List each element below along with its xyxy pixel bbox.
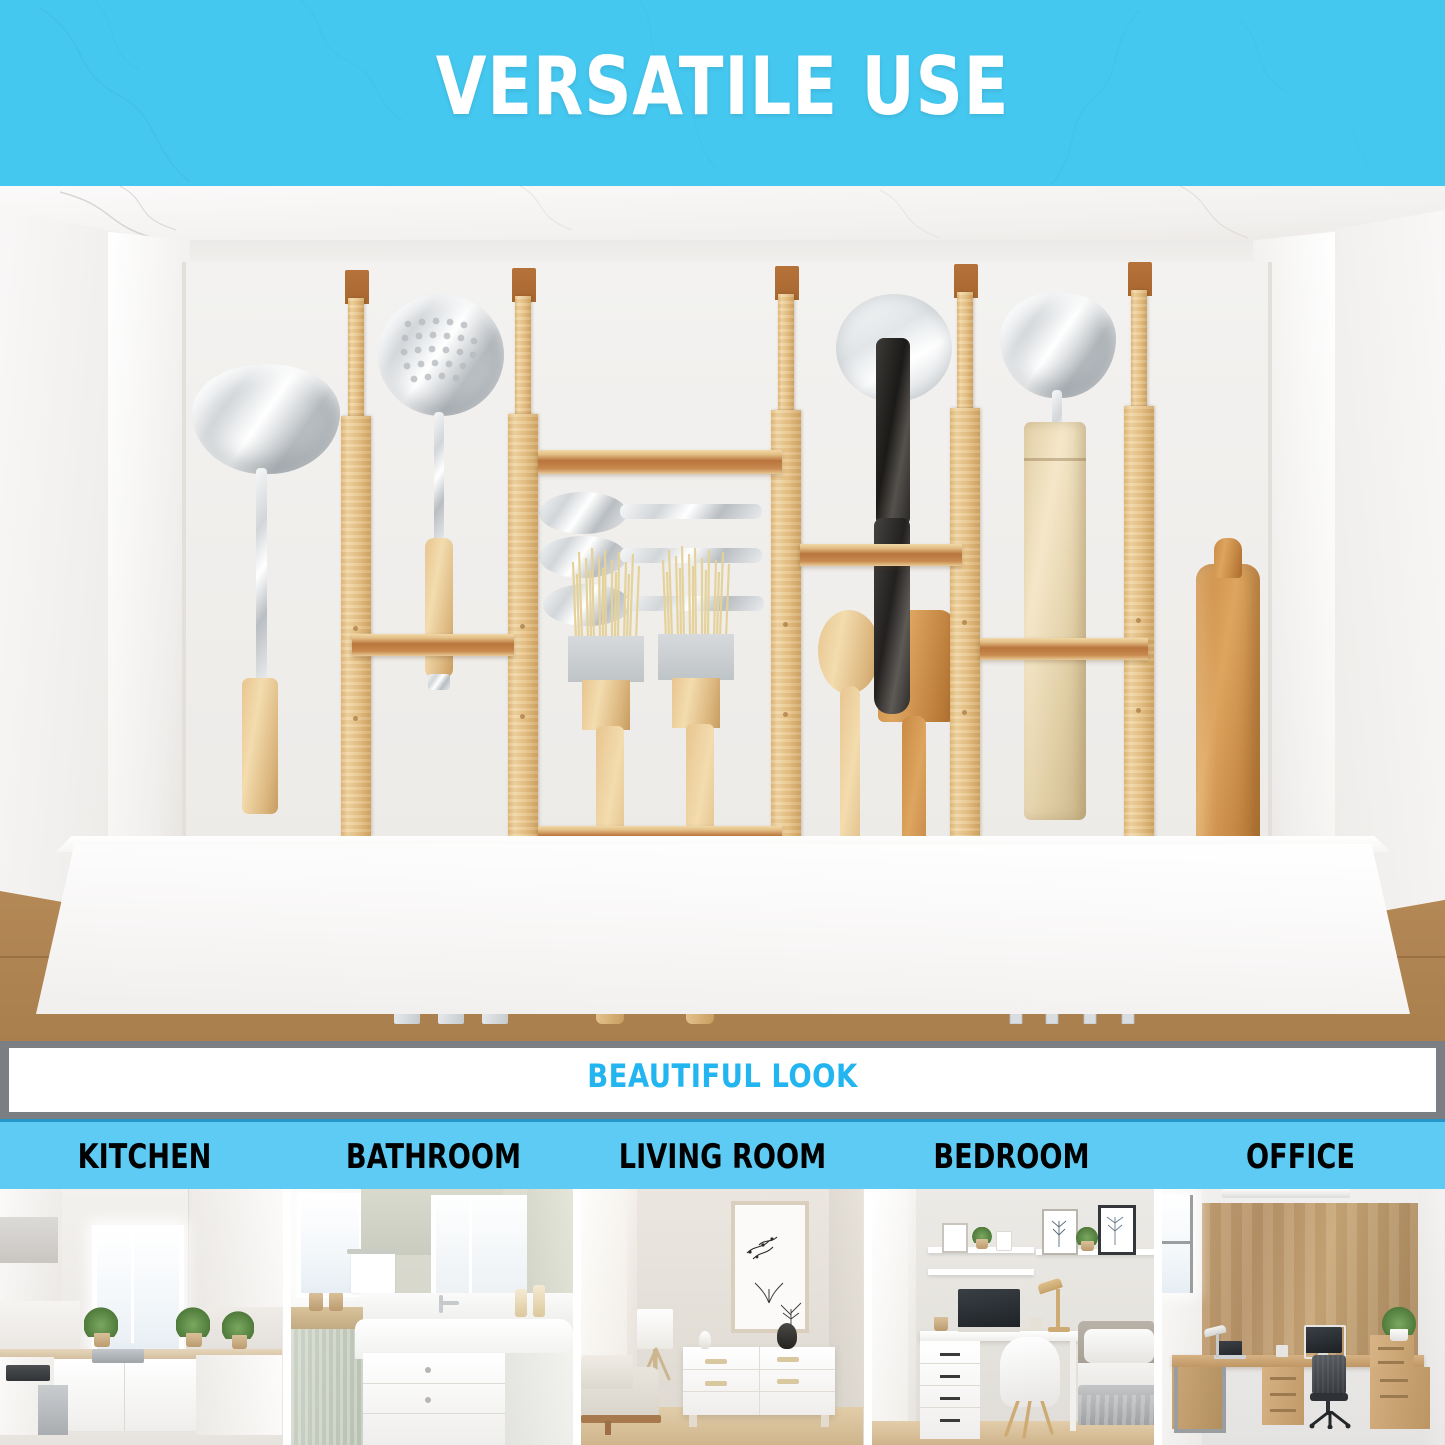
utensil-wooden-spoon-bowl [818,610,880,694]
utensil-rolling-pin-knob-top [1214,538,1242,578]
utensil-skimmer-ferrule [428,674,450,690]
divider-cross-top-center [538,450,782,474]
dried-branch [773,1299,809,1327]
room-label-bathroom: BATHROOM [318,1122,549,1192]
room-label-bedroom: BEDROOM [896,1122,1127,1192]
utensil-ladle-stem [256,468,267,680]
hero-product-photo [0,186,1445,1041]
room-label-office: OFFICE [1185,1122,1416,1192]
utensil-brush-1-handle [582,680,630,730]
room-photo-bedroom [872,1189,1155,1445]
divider-cross-right-upper [800,544,962,566]
room-label-living-room: LIVING ROOM [607,1122,838,1192]
beautiful-look-label: BEAUTIFUL LOOK [101,1056,1344,1096]
leaf-art-1 [1048,1215,1070,1247]
room-label-kitchen: KITCHEN [29,1122,260,1192]
utensil-skimmer-stem [434,412,444,542]
drawer-side-left [108,232,190,941]
utensil-skimmer-perforations [398,314,486,398]
utensil-brush-2-bristles [660,540,732,638]
utensil-bamboo-pestle-band [1024,458,1086,461]
utensil-spoon-1-handle [620,504,762,519]
utensil-pizza-cutter-handle [876,338,910,526]
page-title: VERSATILE USE [130,44,1315,130]
room-photo-living-room [581,1189,864,1445]
utensil-brush-2-ferrule [658,634,734,680]
chair-legs [1002,1401,1060,1439]
utensil-brush-1-bristles [570,544,642,640]
utensil-ladle-handle [242,678,278,814]
header-banner: VERSATILE USE [0,0,1445,186]
utensil-skimmer-handle [425,538,453,678]
room-photo-strip [0,1189,1445,1445]
room-photo-bathroom [291,1189,574,1445]
utensil-spoon-1-bowl [539,492,627,534]
utensil-brush-2-handle [672,678,720,728]
drawer-front-panel [36,844,1410,1014]
room-photo-office [1162,1189,1445,1445]
utensil-bamboo-pestle [1024,422,1086,820]
leaf-art-2 [1104,1213,1126,1245]
room-photo-kitchen [0,1189,283,1445]
utensil-brush-1-ferrule [568,636,644,682]
product-infographic: VERSATILE USE [0,0,1445,1445]
chair-base [1308,1411,1352,1429]
room-label-bar: KITCHEN BATHROOM LIVING ROOM BEDROOM OFF… [0,1119,1445,1192]
divider-cross-left [352,634,514,656]
divider-cross-right-lower [980,638,1148,660]
